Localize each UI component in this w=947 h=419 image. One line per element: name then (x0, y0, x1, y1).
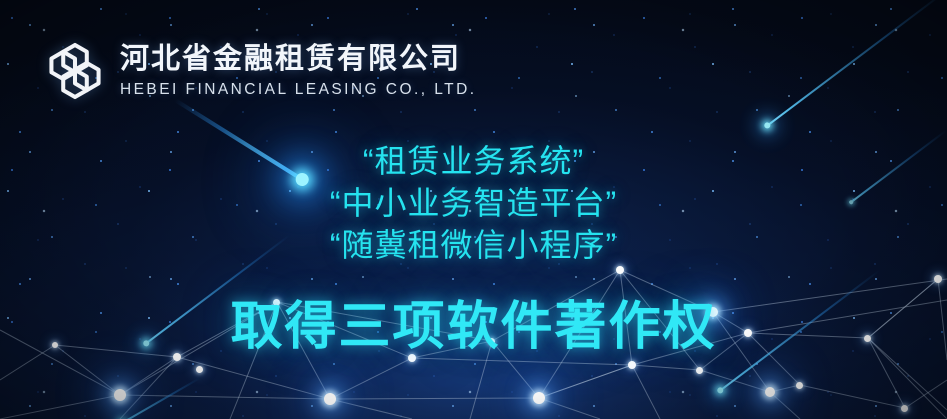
product-line-3: “随冀租微信小程序” (0, 224, 947, 266)
headline-text: 取得三项软件著作权 (0, 284, 947, 359)
company-name-column: 河北省金融租赁有限公司 HEBEI FINANCIAL LEASING CO.,… (120, 43, 476, 99)
product-line-2: “中小业务智造平台” (0, 182, 947, 224)
company-name-chinese: 河北省金融租赁有限公司 (120, 43, 476, 75)
hexagon-logo-icon (44, 40, 106, 102)
promotional-banner: 河北省金融租赁有限公司 HEBEI FINANCIAL LEASING CO.,… (0, 0, 947, 419)
product-line-1: “租赁业务系统” (0, 140, 947, 182)
company-name-english: HEBEI FINANCIAL LEASING CO., LTD. (120, 80, 476, 99)
product-name-list: “租赁业务系统” “中小业务智造平台” “随冀租微信小程序” (0, 140, 947, 267)
brand-logo-block: 河北省金融租赁有限公司 HEBEI FINANCIAL LEASING CO.,… (44, 40, 476, 102)
